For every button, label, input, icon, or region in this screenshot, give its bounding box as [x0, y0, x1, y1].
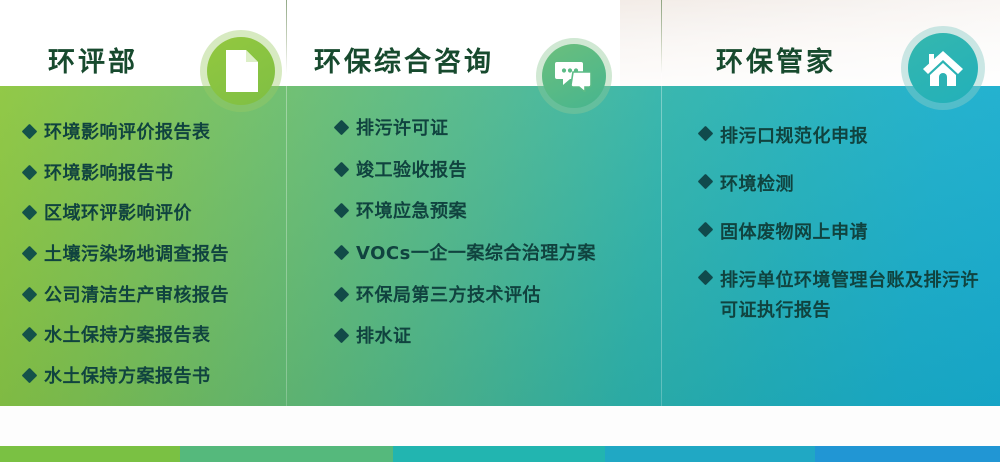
list-item-label: 环境检测 — [720, 170, 794, 199]
list-item-label: 排水证 — [356, 324, 412, 351]
diamond-bullet-icon — [334, 203, 350, 219]
diamond-bullet-icon — [698, 126, 714, 142]
stripe-segment-green — [0, 446, 180, 462]
list-item-label: 土壤污染场地调查报告 — [44, 242, 229, 269]
list-item-label: 水土保持方案报告表 — [44, 323, 211, 350]
diamond-bullet-icon — [22, 327, 38, 343]
list-item-label: 排污许可证 — [356, 116, 449, 143]
column-2-list: 排污许可证 竣工验收报告 环境应急预案 VOCs一企一案综合治理方案 环保局第三… — [336, 116, 656, 366]
list-item[interactable]: 排污许可证 — [336, 116, 656, 143]
diamond-bullet-icon — [334, 245, 350, 261]
list-item-label: 固体废物网上申请 — [720, 218, 868, 247]
list-item[interactable]: 公司清洁生产审核报告 — [24, 283, 286, 310]
list-item-label: 公司清洁生产审核报告 — [44, 283, 229, 310]
stripe-segment-teal-green — [180, 446, 393, 462]
poster: 环评部 环保综合咨询 环保管家 环境影响评价报告 — [0, 0, 1000, 462]
list-item-label: 竣工验收报告 — [356, 158, 467, 185]
bottom-color-stripe — [0, 446, 1000, 462]
list-item-label: VOCs一企一案综合治理方案 — [356, 241, 596, 268]
document-icon-badge — [200, 30, 282, 112]
list-item[interactable]: 环保局第三方技术评估 — [336, 283, 656, 310]
diamond-bullet-icon — [22, 286, 38, 302]
list-item[interactable]: 排污口规范化申报 — [700, 122, 992, 151]
document-icon — [224, 50, 258, 92]
list-item[interactable]: 固体废物网上申请 — [700, 218, 992, 247]
column-divider-1 — [286, 0, 287, 462]
diamond-bullet-icon — [334, 328, 350, 344]
column-1-list: 环境影响评价报告表 环境影响报告书 区域环评影响评价 土壤污染场地调查报告 公司… — [24, 120, 286, 404]
list-item[interactable]: 区域环评影响评价 — [24, 201, 286, 228]
list-item[interactable]: 环境检测 — [700, 170, 992, 199]
chat-bubbles-icon-badge — [536, 38, 612, 114]
top-white-band — [0, 0, 1000, 86]
list-item[interactable]: 环境影响报告书 — [24, 161, 286, 188]
column-divider-2 — [661, 0, 662, 462]
list-item-label: 环境影响评价报告表 — [44, 120, 211, 147]
column-3-list: 排污口规范化申报 环境检测 固体废物网上申请 排污单位环境管理台账及排污许可证执… — [700, 122, 992, 344]
list-item[interactable]: 环境应急预案 — [336, 199, 656, 226]
list-item-label: 区域环评影响评价 — [44, 201, 192, 228]
diamond-bullet-icon — [22, 367, 38, 383]
home-icon — [922, 49, 964, 87]
list-item[interactable]: 竣工验收报告 — [336, 158, 656, 185]
list-item-label: 排污口规范化申报 — [720, 122, 868, 151]
diamond-bullet-icon — [22, 124, 38, 140]
column-1-heading: 环评部 — [48, 40, 138, 79]
list-item[interactable]: 水土保持方案报告书 — [24, 364, 286, 391]
list-item[interactable]: 排水证 — [336, 324, 656, 351]
home-icon-badge — [901, 26, 985, 110]
diamond-bullet-icon — [334, 286, 350, 302]
diamond-bullet-icon — [22, 164, 38, 180]
list-item[interactable]: 环境影响评价报告表 — [24, 120, 286, 147]
diamond-bullet-icon — [22, 205, 38, 221]
diamond-bullet-icon — [334, 120, 350, 136]
list-item[interactable]: 土壤污染场地调查报告 — [24, 242, 286, 269]
bottom-white-band — [0, 406, 1000, 446]
diamond-bullet-icon — [698, 222, 714, 238]
list-item-label: 环境影响报告书 — [44, 161, 174, 188]
list-item-label: 排污单位环境管理台账及排污许可证执行报告 — [720, 266, 992, 324]
column-2-heading: 环保综合咨询 — [314, 40, 494, 79]
list-item[interactable]: 排污单位环境管理台账及排污许可证执行报告 — [700, 266, 992, 324]
list-item-label: 环境应急预案 — [356, 199, 467, 226]
list-item-label: 水土保持方案报告书 — [44, 364, 211, 391]
column-3-heading: 环保管家 — [716, 40, 836, 79]
stripe-segment-blue — [815, 446, 1000, 462]
diamond-bullet-icon — [698, 270, 714, 286]
chat-bubbles-icon — [555, 60, 593, 92]
list-item[interactable]: VOCs一企一案综合治理方案 — [336, 241, 656, 268]
stripe-segment-teal — [393, 446, 605, 462]
diamond-bullet-icon — [22, 246, 38, 262]
list-item[interactable]: 水土保持方案报告表 — [24, 323, 286, 350]
diamond-bullet-icon — [334, 161, 350, 177]
list-item-label: 环保局第三方技术评估 — [356, 283, 541, 310]
stripe-segment-cyan — [605, 446, 815, 462]
diamond-bullet-icon — [698, 174, 714, 190]
